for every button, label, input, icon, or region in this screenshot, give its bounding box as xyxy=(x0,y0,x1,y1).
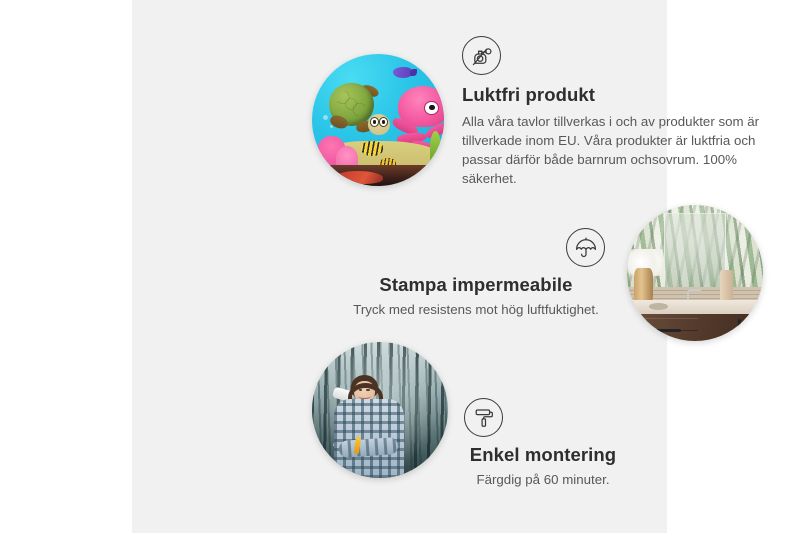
icon-row xyxy=(432,398,654,437)
underwater-scene xyxy=(312,54,444,186)
green-seaweed xyxy=(430,131,442,165)
umbrella-icon xyxy=(566,228,605,267)
photo-underwater-kids-mural xyxy=(312,54,444,186)
photo-bathroom-leaf-wallpaper xyxy=(627,205,763,341)
turtle-eye xyxy=(379,117,388,127)
feature-description: Färgdig på 60 minuter. xyxy=(432,471,654,490)
icon-row xyxy=(340,228,612,267)
feature-title: Stampa impermeabile xyxy=(340,274,612,296)
feature-description: Tryck med resistens mot hög luftfuktighe… xyxy=(340,301,612,320)
bathroom-scene xyxy=(627,205,763,341)
feature-title: Enkel montering xyxy=(432,444,654,466)
cabinet-door-handle xyxy=(738,319,741,335)
soap-dish xyxy=(649,303,668,310)
purple-fish xyxy=(393,67,413,78)
turtle-head xyxy=(368,114,390,135)
paint-roller-icon xyxy=(464,398,503,437)
forest-scene xyxy=(312,342,448,478)
no-odour-spray-bottle-icon xyxy=(462,36,501,75)
screenshot-stage: Luktfri produkt Alla våra tavlor tillver… xyxy=(0,0,800,533)
wood-vanity-cabinet xyxy=(627,314,763,341)
striped-fish xyxy=(361,141,383,156)
sea-turtle xyxy=(329,83,390,136)
octopus-eye xyxy=(424,101,439,115)
photo-decorator-in-forest xyxy=(312,342,448,478)
octopus-head xyxy=(398,86,444,127)
feature-block-easy-mounting: Enkel montering Färgdig på 60 minuter. xyxy=(432,398,654,490)
feature-block-waterproof-print: Stampa impermeabile Tryck med resistens … xyxy=(340,228,612,320)
drawer-handle xyxy=(646,329,681,332)
woman-with-paint-roller xyxy=(331,375,407,478)
bathroom-mirror xyxy=(664,213,726,294)
bubble-icon xyxy=(323,115,328,120)
feature-block-odour-free: Luktfri produkt Alla våra tavlor tillver… xyxy=(462,36,762,189)
soap-dispenser xyxy=(720,270,734,300)
feature-title: Luktfri produkt xyxy=(462,84,762,106)
content-panel: Luktfri produkt Alla våra tavlor tillver… xyxy=(132,0,667,533)
turtle-eye xyxy=(370,117,379,127)
feature-description: Alla våra tavlor tillverkas i och av pro… xyxy=(462,113,762,189)
foreground-shipwreck-band xyxy=(312,165,444,186)
